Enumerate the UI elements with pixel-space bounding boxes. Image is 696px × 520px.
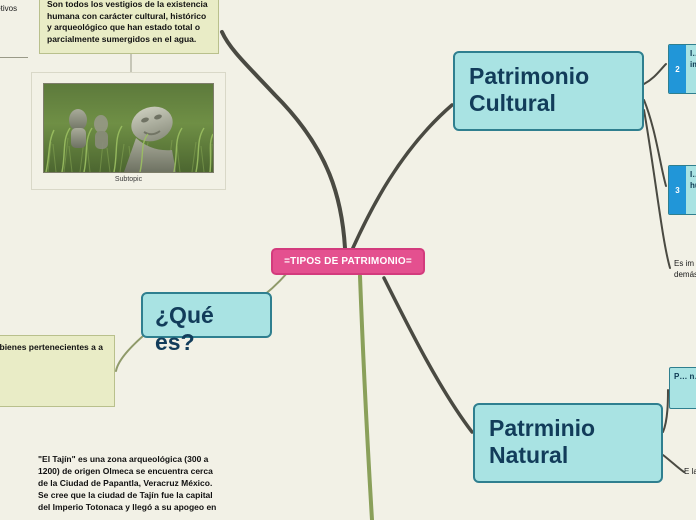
topic-cultural-line2: Cultural (469, 90, 628, 117)
right-text-importancia: Es im que ca demás (674, 258, 696, 280)
numbered-node-2-badge: 2 (669, 45, 686, 93)
topic-patrimonio-natural[interactable]: Patrminio Natural (473, 403, 663, 483)
right-small-node[interactable]: P… n… e… (669, 367, 696, 409)
text-el-tajin: "El Tajín" es una zona arqueológica (300… (38, 453, 218, 513)
numbered-node-2[interactable]: 2 I… de… imp (668, 44, 696, 94)
submerged-sculpture-photo[interactable] (43, 83, 214, 173)
right-text-secondary: E la (684, 466, 696, 477)
note-conjunto-bienes[interactable]: nto de los bienes pertenecientes a a fís… (0, 335, 115, 407)
numbered-node-3-badge: 3 (669, 166, 686, 214)
numbered-node-2-text: I… de… imp (686, 45, 696, 93)
topic-patrimonio-cultural[interactable]: Patrimonio Cultural (453, 51, 644, 131)
topic-natural-line2: Natural (489, 442, 647, 469)
stub-divider (0, 57, 28, 58)
topic-cultural-line1: Patrimonio (469, 63, 628, 90)
stub-label-objetivos: ojetivos (0, 4, 24, 13)
photo-illustration (44, 84, 213, 172)
central-node-tipos-de-patrimonio[interactable]: =TIPOS DE PATRIMONIO= (271, 248, 425, 275)
topic-que-es[interactable]: ¿Qué es? (141, 292, 272, 338)
numbered-node-3[interactable]: 3 I… bi… hu… ac… (668, 165, 696, 215)
topic-que-es-label: ¿Qué es? (155, 302, 258, 356)
central-node-label: =TIPOS DE PATRIMONIO= (284, 256, 412, 267)
image-caption: Subtopic (31, 176, 226, 183)
topic-natural-line1: Patrminio (489, 415, 647, 442)
numbered-node-3-text: I… bi… hu… ac… (686, 166, 696, 214)
mindmap-canvas: ojetivos Son todos los vestigios de la e… (0, 0, 696, 520)
note-vestigios[interactable]: Son todos los vestigios de la existencia… (39, 0, 219, 54)
